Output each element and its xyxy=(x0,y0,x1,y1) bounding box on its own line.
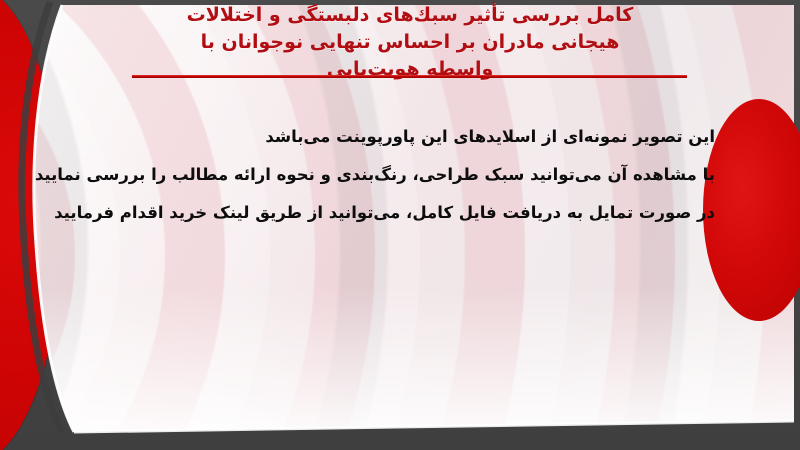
title-line-3: واسطه هویت‌یابی xyxy=(130,56,690,83)
panel-bottom-shine xyxy=(0,287,794,437)
body-line-3: در صورت تمایل به دریافت فایل کامل، می‌تو… xyxy=(95,194,715,232)
slide-body-text: این تصویر نمونه‌ای از اسلایدهای این پاور… xyxy=(95,118,715,232)
body-line-1: این تصویر نمونه‌ای از اسلایدهای این پاور… xyxy=(95,118,715,156)
title-line-2: هیجانی مادران بر احساس تنهایی نوجوانان ب… xyxy=(130,29,690,56)
presentation-slide: کامل بررسی تأثیر سبك‌های دلبستگی و اختلا… xyxy=(0,0,800,450)
title-divider-rule xyxy=(132,75,687,78)
body-line-2: با مشاهده آن می‌توانید سبک طراحی، رنگ‌بن… xyxy=(95,156,715,194)
title-line-1: کامل بررسی تأثیر سبك‌های دلبستگی و اختلا… xyxy=(130,2,690,29)
slide-title: کامل بررسی تأثیر سبك‌های دلبستگی و اختلا… xyxy=(130,2,690,83)
